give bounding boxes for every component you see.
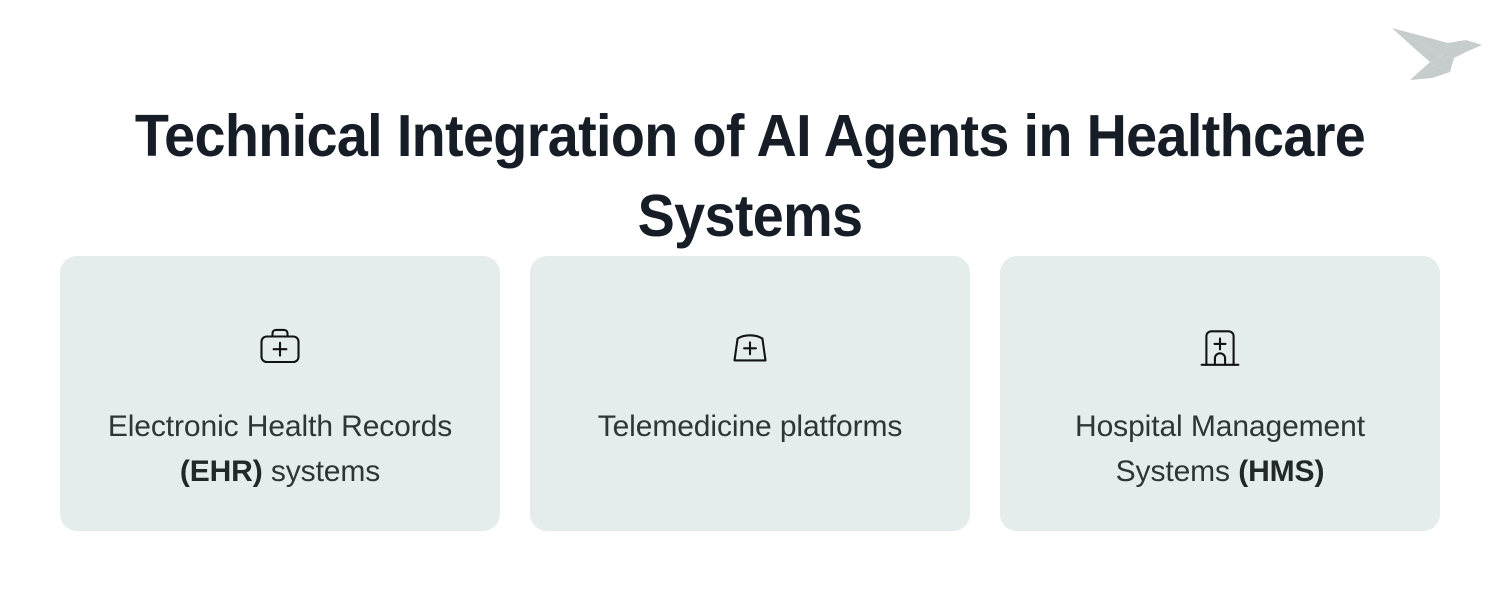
feature-card-label: Hospital Management Systems (HMS) <box>1020 404 1420 494</box>
feature-card-ehr[interactable]: Electronic Health Records (EHR) systems <box>60 256 500 531</box>
feature-card-telemedicine[interactable]: Telemedicine platforms <box>530 256 970 531</box>
feature-card-label: Electronic Health Records (EHR) systems <box>80 404 480 494</box>
label-acronym: (HMS) <box>1238 455 1324 488</box>
medical-kit-icon <box>254 322 306 374</box>
page-title: Technical Integration of AI Agents in He… <box>41 96 1459 256</box>
nurse-cap-icon <box>724 322 776 374</box>
label-prefix: Telemedicine platforms <box>598 410 903 443</box>
origami-bird-logo <box>1388 18 1486 80</box>
feature-card-hms[interactable]: Hospital Management Systems (HMS) <box>1000 256 1440 531</box>
hospital-building-icon <box>1194 322 1246 374</box>
label-suffix: systems <box>263 455 381 488</box>
feature-card-list: Electronic Health Records (EHR) systems … <box>60 256 1440 531</box>
label-acronym: (EHR) <box>180 455 263 488</box>
label-prefix: Electronic Health Records <box>108 410 452 443</box>
feature-card-label: Telemedicine platforms <box>550 404 950 449</box>
